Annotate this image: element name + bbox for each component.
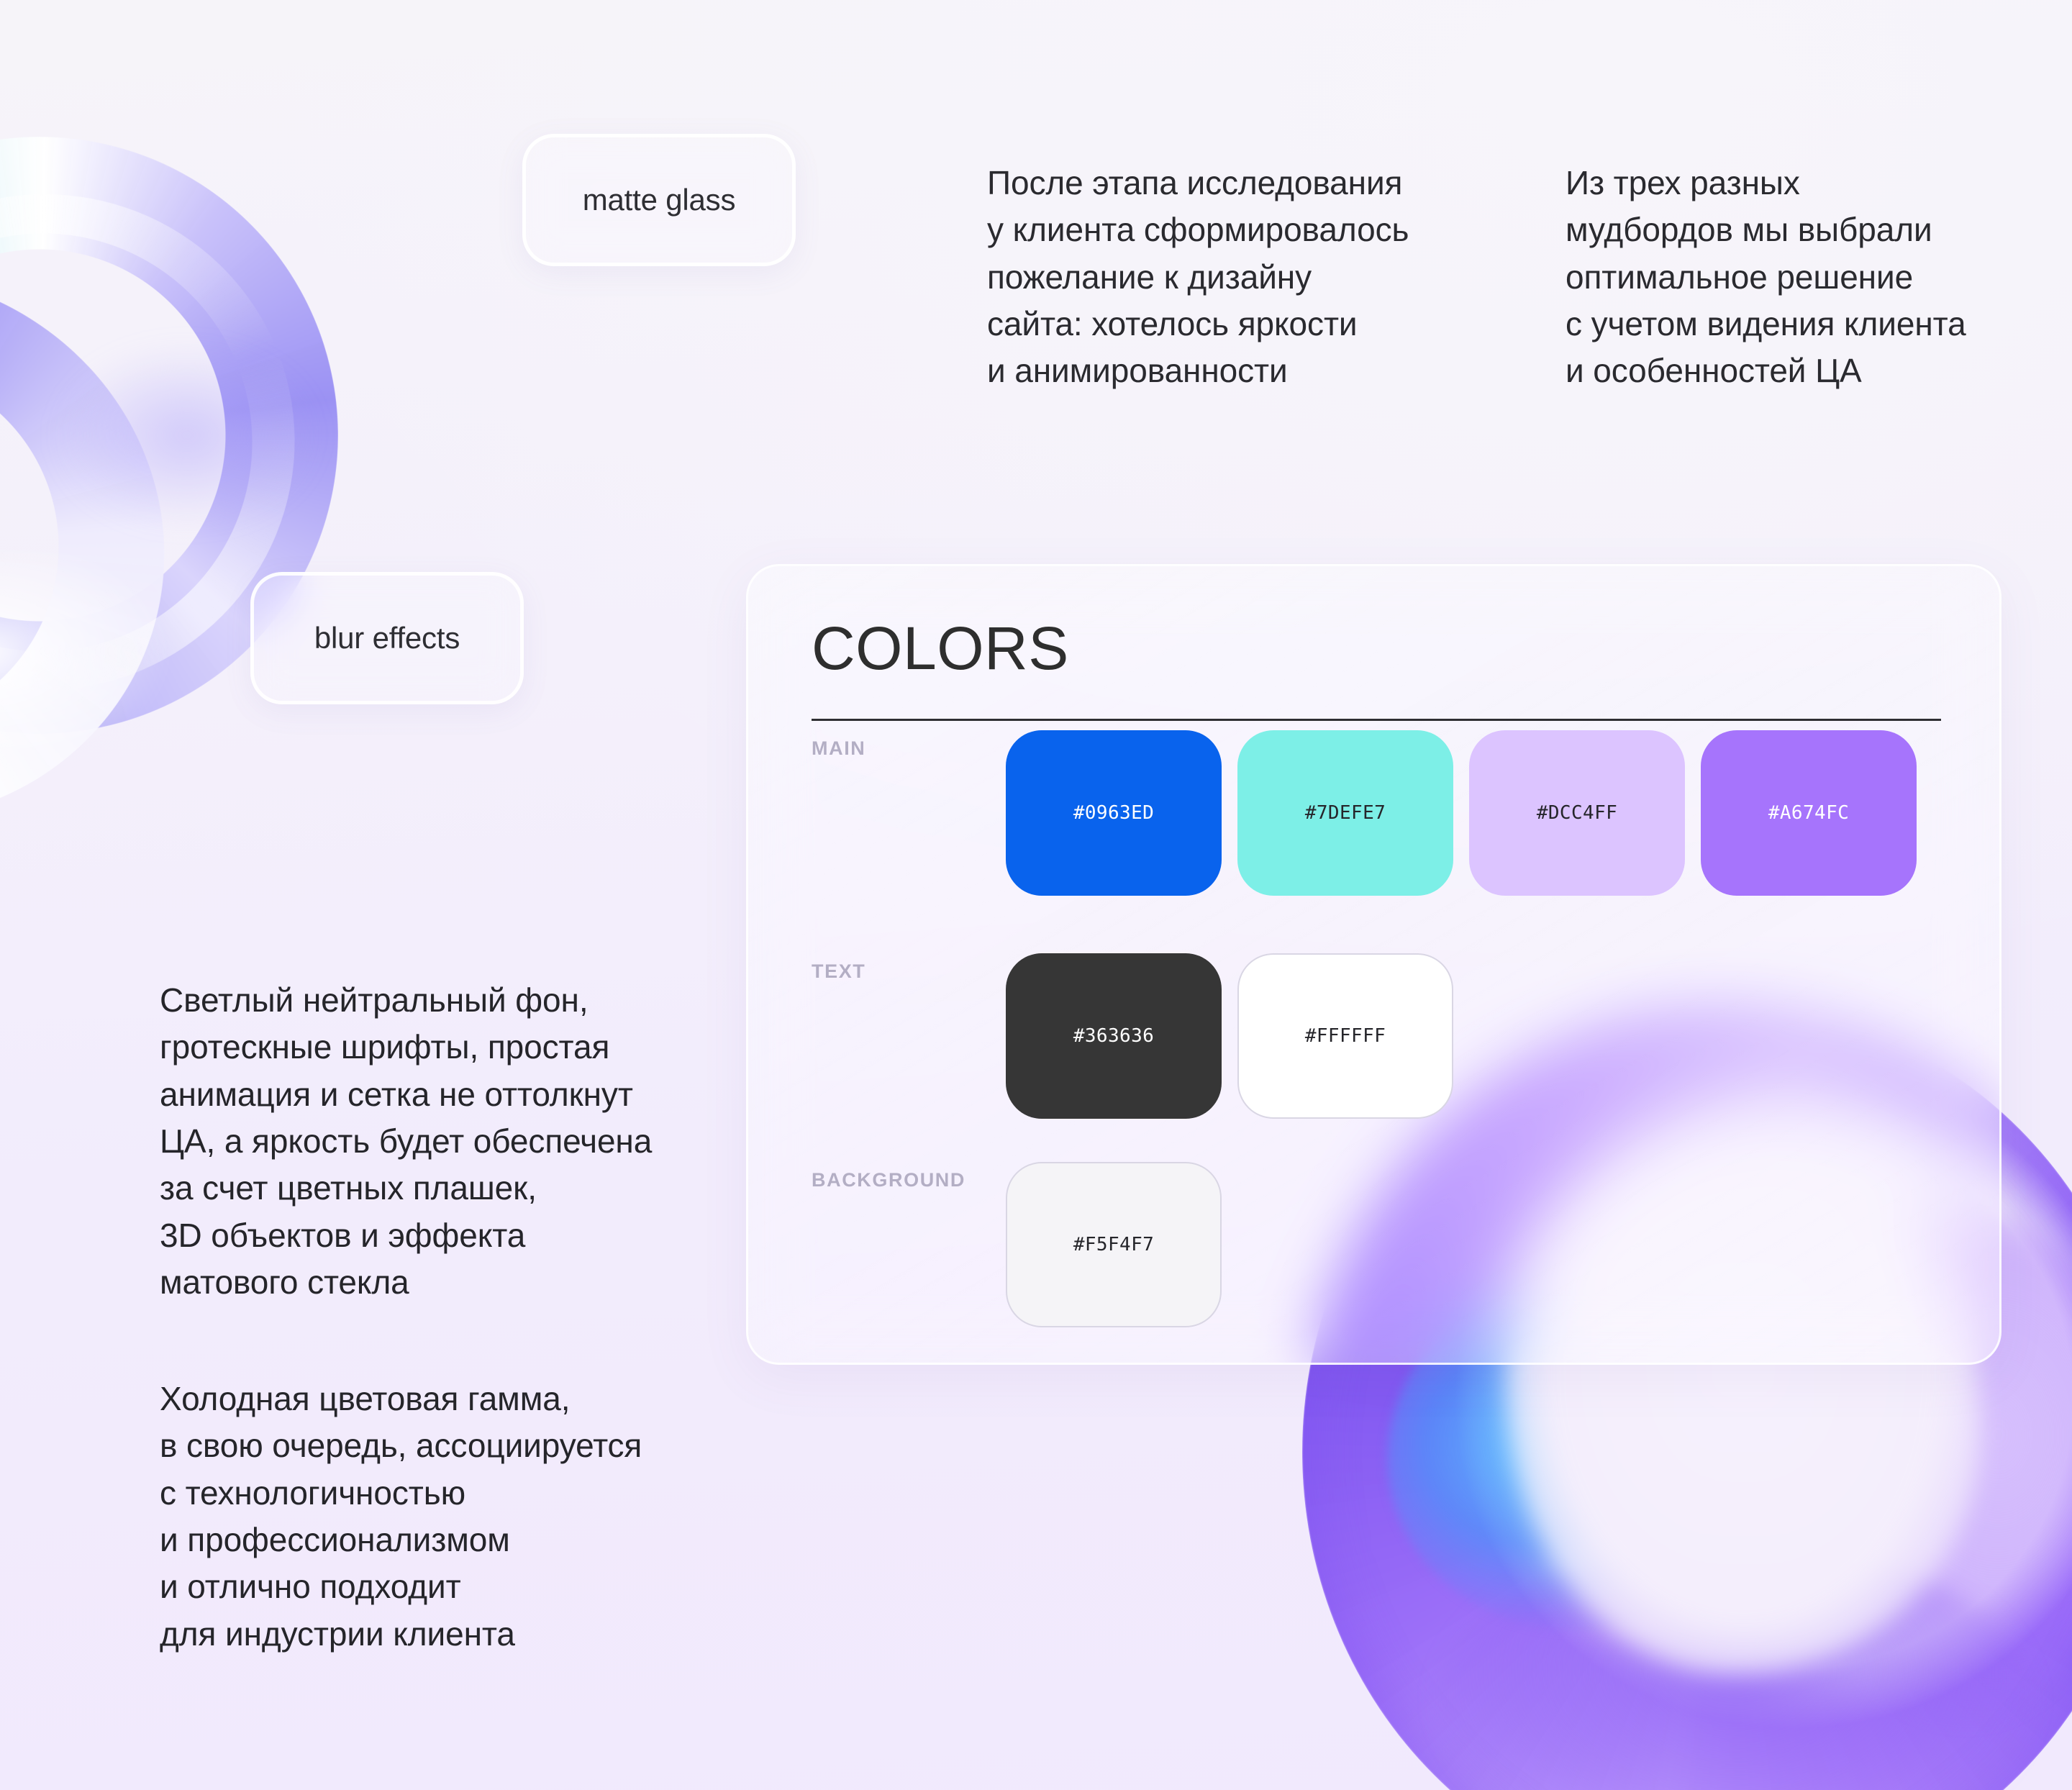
swatch-main-1[interactable]: #0963ED xyxy=(1006,730,1222,896)
glass-ring-inner xyxy=(0,204,230,889)
presentation-slide: matte glass blur effects После этапа исс… xyxy=(0,0,2072,1790)
swatch-text-1[interactable]: #363636 xyxy=(1006,953,1222,1119)
swatch-row-background: BACKGROUND #F5F4F7 xyxy=(812,1162,1936,1327)
glass-ribbon-3d-decoration xyxy=(0,108,590,827)
glass-glare-lower xyxy=(0,554,173,770)
swatch-row-label-background: BACKGROUND xyxy=(812,1162,1006,1191)
paragraph-moodboards: Из трех разных мудбордов мы выбрали опти… xyxy=(1566,160,2026,395)
paragraph-research-stage: После этапа исследования у клиента сформ… xyxy=(987,160,1448,395)
swatch-main-4[interactable]: #A674FC xyxy=(1701,730,1917,896)
swatch-row-main: MAIN #0963ED #7DEFE7 #DCC4FF #A674FC xyxy=(812,730,1936,896)
chip-blur-effects-label: blur effects xyxy=(314,621,460,655)
paragraph-neutral-background: Светлый нейтральный фон, гротескные шриф… xyxy=(160,977,706,1306)
swatch-background-1-hex: #F5F4F7 xyxy=(1073,1234,1154,1255)
paragraph-cool-palette: Холодная цветовая гамма, в свою очередь,… xyxy=(160,1376,706,1658)
swatch-text-2[interactable]: #FFFFFF xyxy=(1237,953,1453,1119)
swatch-main-1-hex: #0963ED xyxy=(1073,802,1154,824)
swatch-main-3-hex: #DCC4FF xyxy=(1537,802,1617,824)
chip-blur-effects: blur effects xyxy=(250,572,524,704)
swatch-group-main: #0963ED #7DEFE7 #DCC4FF #A674FC xyxy=(1006,730,1917,896)
colors-panel: COLORS MAIN #0963ED #7DEFE7 #DCC4FF #A67… xyxy=(746,564,2001,1365)
glass-glare-upper xyxy=(58,345,317,525)
swatch-row-text: TEXT #363636 #FFFFFF xyxy=(812,953,1936,1119)
smoke-wisp-bottom xyxy=(1438,1541,2032,1790)
colors-panel-divider xyxy=(812,719,1941,721)
swatch-main-2-hex: #7DEFE7 xyxy=(1305,802,1386,824)
chip-matte-glass: matte glass xyxy=(522,134,796,266)
colors-panel-title: COLORS xyxy=(812,618,1936,678)
swatch-main-4-hex: #A674FC xyxy=(1768,802,1849,824)
swatch-main-2[interactable]: #7DEFE7 xyxy=(1237,730,1453,896)
chip-matte-glass-label: matte glass xyxy=(583,183,736,217)
swatch-group-text: #363636 #FFFFFF xyxy=(1006,953,1453,1119)
swatch-row-label-text: TEXT xyxy=(812,953,1006,983)
swatch-group-background: #F5F4F7 xyxy=(1006,1162,1222,1327)
swatch-text-2-hex: #FFFFFF xyxy=(1305,1025,1386,1047)
swatch-main-3[interactable]: #DCC4FF xyxy=(1469,730,1685,896)
swatch-background-1[interactable]: #F5F4F7 xyxy=(1006,1162,1222,1327)
swatch-text-1-hex: #363636 xyxy=(1073,1025,1154,1047)
swatch-row-label-main: MAIN xyxy=(812,730,1006,760)
